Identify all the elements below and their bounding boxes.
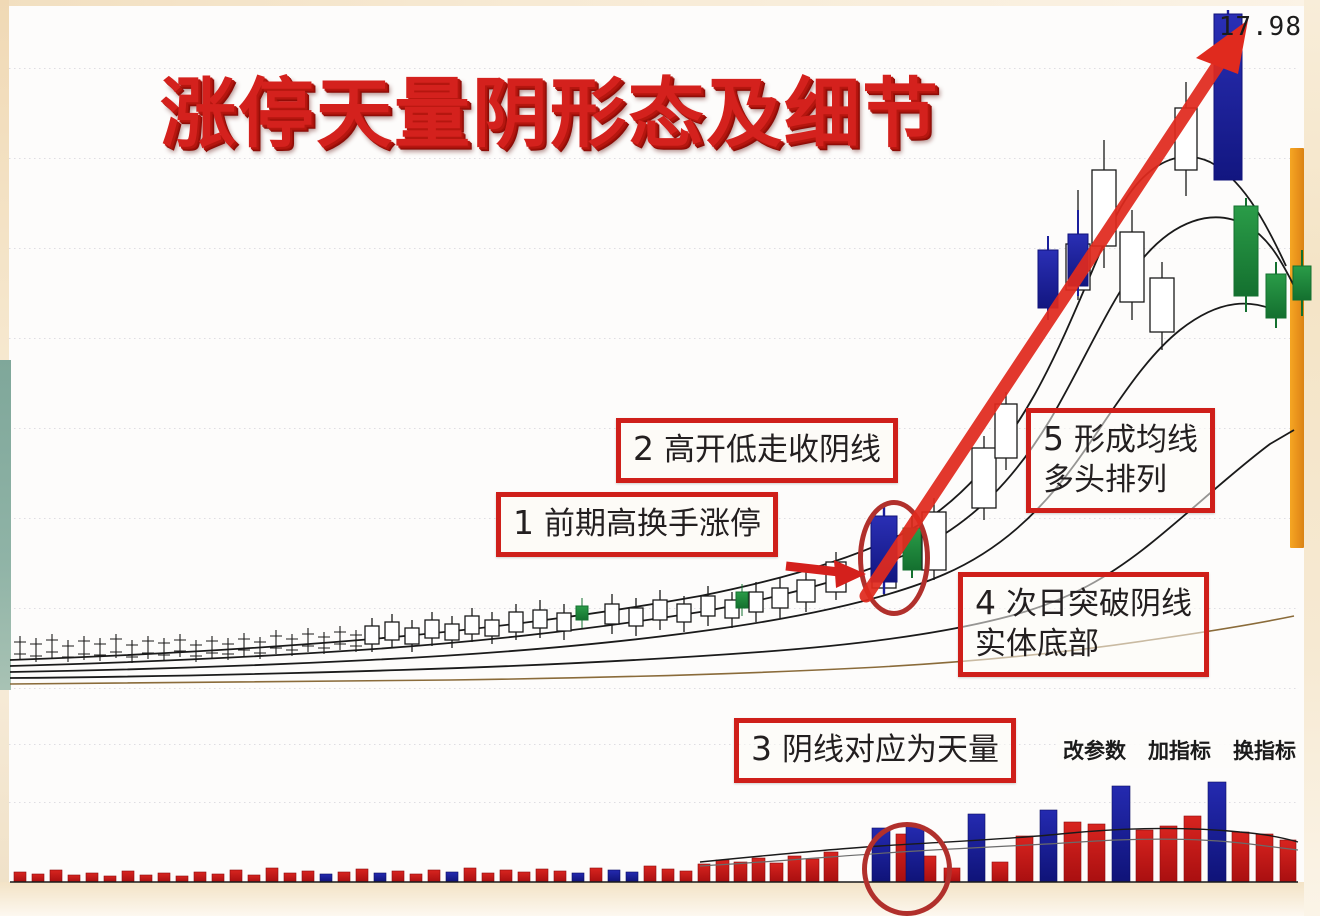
- gridline: [9, 688, 1298, 689]
- right-border-strip: [1304, 0, 1320, 916]
- indicator-toolbar[interactable]: 改参数 加指标 换指标: [1057, 732, 1302, 768]
- annotation-5: 5形成均线 多头排列: [1026, 408, 1215, 513]
- gridline: [9, 802, 1298, 803]
- annotation-4: 4次日突破阴线 实体底部: [958, 572, 1209, 677]
- annotation-4-line2: 实体底部: [975, 626, 1192, 664]
- change-params-button[interactable]: 改参数: [1063, 735, 1126, 765]
- page-title: 涨停天量阴形态及细节: [160, 52, 940, 162]
- annotation-1: 1前期高换手涨停: [496, 492, 778, 557]
- bottom-border-strip: [0, 882, 1320, 916]
- highlight-ellipse-volume: [862, 822, 952, 916]
- add-indicator-button[interactable]: 加指标: [1148, 735, 1211, 765]
- annotation-3-number: 3: [751, 729, 772, 768]
- gridline: [9, 248, 1298, 249]
- left-border-strip-teal: [0, 360, 11, 690]
- annotation-5-number: 5: [1043, 419, 1064, 458]
- annotation-1-number: 1: [513, 503, 534, 542]
- annotation-3: 3阴线对应为天量: [734, 718, 1016, 783]
- vertical-scrollbar[interactable]: [1290, 148, 1304, 548]
- gridline: [9, 338, 1298, 339]
- annotation-3-text: 阴线对应为天量: [782, 732, 999, 768]
- annotation-1-text: 前期高换手涨停: [544, 506, 761, 542]
- annotation-2-number: 2: [633, 429, 654, 468]
- highlight-ellipse-candle: [858, 500, 930, 616]
- swap-indicator-button[interactable]: 换指标: [1233, 735, 1296, 765]
- annotation-4-line1: 次日突破阴线: [1006, 586, 1192, 622]
- annotation-2: 2高开低走收阴线: [616, 418, 898, 483]
- annotation-2-text: 高开低走收阴线: [664, 432, 881, 468]
- annotation-5-line2: 多头排列: [1043, 462, 1198, 500]
- price-label: 17.98: [1219, 12, 1302, 42]
- top-border-strip: [0, 0, 1320, 6]
- annotation-5-line1: 形成均线: [1074, 422, 1198, 458]
- left-border-strip-upper: [0, 0, 9, 360]
- chart-screenshot: 涨停天量阴形态及细节 17.98 2高开低走收阴线 1前期高换手涨停 5形成均线…: [0, 0, 1320, 916]
- annotation-4-number: 4: [975, 583, 996, 622]
